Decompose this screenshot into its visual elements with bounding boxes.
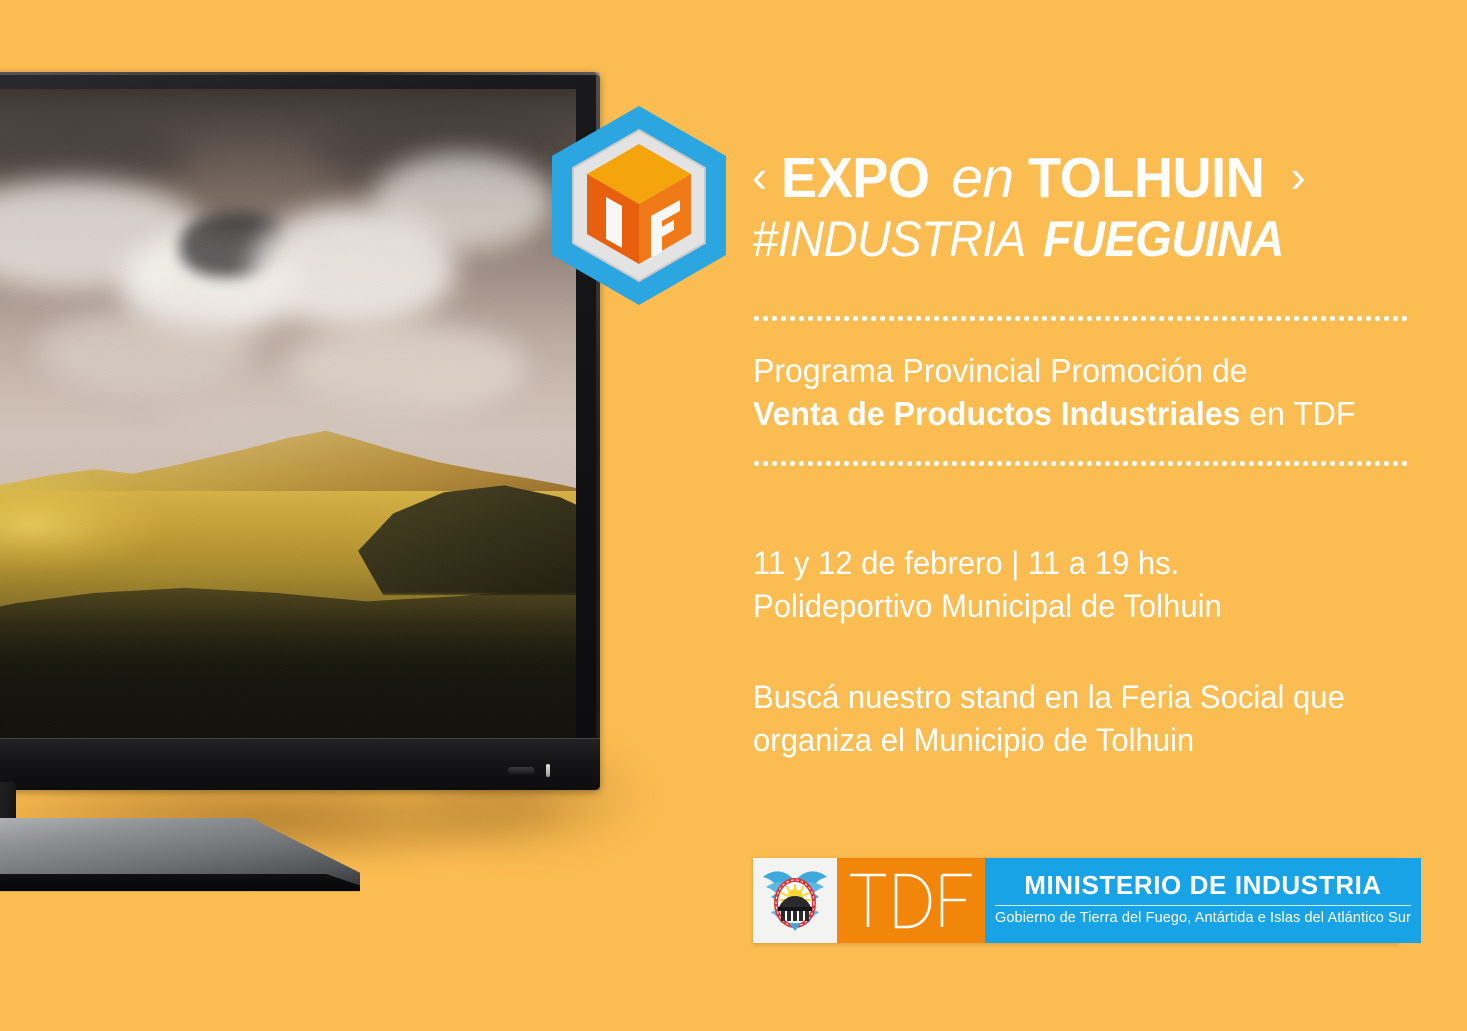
- tdf-logotype: [837, 858, 985, 943]
- ministry-title: MINISTERIO DE INDUSTRIA: [1024, 872, 1382, 899]
- tv-screen-image: [0, 89, 576, 738]
- screen-slope-highlight: [0, 478, 234, 595]
- stand-line-2: organiza el Municipio de Tolhuin: [753, 719, 1393, 762]
- coat-waterline: [778, 907, 812, 911]
- tdf-letters: [850, 875, 972, 927]
- headline-word-tolhuin: TOLHUIN: [1028, 150, 1264, 207]
- tv-power-led: [546, 764, 550, 777]
- program-line-2-bold: Venta de Productos Industriales: [753, 395, 1240, 432]
- cube-letter-i: [606, 197, 622, 248]
- headline-word-en: en: [951, 150, 1013, 207]
- industria-fueguina-hex-logo: [548, 104, 730, 307]
- chevron-left-icon: ‹: [752, 153, 767, 199]
- ministry-rule: [995, 905, 1411, 906]
- ministry-subtitle: Gobierno de Tierra del Fuego, Antártida …: [995, 911, 1411, 927]
- tv-bottom-chin: [0, 738, 600, 790]
- headline-line-1: ‹ EXPO en TOLHUIN ›: [752, 150, 1412, 207]
- hashtag-fueguina: FUEGUINA: [1043, 213, 1284, 266]
- tv-chin-highlight: [0, 738, 600, 739]
- headline-line-2: #INDUSTRIA FUEGUINA: [752, 213, 1412, 266]
- tv-ir-sensor: [508, 767, 534, 774]
- tierra-del-fuego-coat-of-arms: [753, 858, 837, 943]
- event-info: 11 y 12 de febrero | 11 a 19 hs. Polidep…: [753, 542, 1393, 762]
- screen-dark-hill-foreground: [0, 569, 576, 738]
- poster-canvas: ‹ EXPO en TOLHUIN › #INDUSTRIA FUEGUINA …: [0, 0, 1467, 1031]
- ministry-block: MINISTERIO DE INDUSTRIA Gobierno de Tier…: [985, 858, 1421, 943]
- screen-cloud-7: [156, 375, 432, 446]
- government-banner: MINISTERIO DE INDUSTRIA Gobierno de Tier…: [753, 858, 1399, 943]
- tv-bezel: [0, 72, 600, 790]
- program-description: Programa Provincial Promoción de Venta d…: [753, 350, 1393, 436]
- divider-dotted-top: [752, 316, 1409, 321]
- tv-stand-base-edge: [0, 874, 360, 896]
- television-product-photo: [0, 72, 600, 790]
- program-line-2-tail: en TDF: [1240, 395, 1355, 432]
- page-title: ‹ EXPO en TOLHUIN › #INDUSTRIA FUEGUINA: [752, 150, 1412, 266]
- program-line-1: Programa Provincial Promoción de: [753, 350, 1393, 393]
- program-line-2: Venta de Productos Industriales en TDF: [753, 393, 1393, 436]
- chevron-right-icon: ›: [1290, 153, 1305, 199]
- screen-cloud-4: [372, 154, 552, 251]
- event-datetime-block: 11 y 12 de febrero | 11 a 19 hs. Polidep…: [753, 542, 1393, 628]
- divider-dotted-bottom: [752, 461, 1409, 466]
- hashtag-industria: #INDUSTRIA: [752, 213, 1026, 266]
- headline-word-expo: EXPO: [781, 150, 930, 207]
- event-stand-block: Buscá nuestro stand en la Feria Social q…: [753, 676, 1393, 762]
- tv-bezel-highlight: [0, 72, 600, 75]
- stand-line-1: Buscá nuestro stand en la Feria Social q…: [753, 676, 1393, 719]
- event-venue: Polideportivo Municipal de Tolhuin: [753, 585, 1393, 628]
- event-date-time: 11 y 12 de febrero | 11 a 19 hs.: [753, 542, 1393, 585]
